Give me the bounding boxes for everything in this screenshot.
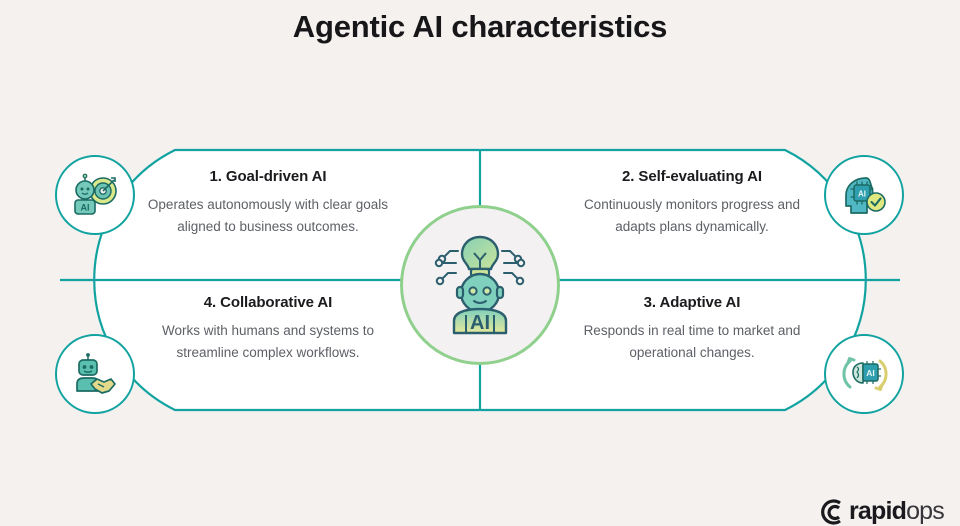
- svg-text:AI: AI: [858, 190, 866, 199]
- logo-text-bold: rapid: [849, 497, 906, 525]
- quadrant-body: Responds in real time to market and oper…: [567, 320, 817, 364]
- center-emblem: AI: [400, 205, 560, 365]
- ai-robot-lightbulb-icon: AI: [424, 229, 536, 341]
- center-emblem-label: AI: [470, 312, 490, 334]
- quadrant-title: 3. Adaptive AI: [567, 294, 817, 311]
- svg-text:AI: AI: [866, 368, 875, 378]
- quadrant-body: Continuously monitors progress and adapt…: [567, 194, 817, 238]
- quadrant-body: Works with humans and systems to streaml…: [143, 320, 393, 364]
- icon-circle-adaptive: AI: [824, 334, 904, 414]
- rapidops-spiral-icon: [818, 499, 844, 525]
- head-chip-checkmark-icon: AI: [840, 172, 888, 218]
- quadrant-goal-driven-ai: 1. Goal-driven AI Operates autonomously …: [143, 168, 393, 238]
- brain-chip-refresh-icon: AI: [840, 351, 888, 397]
- quadrant-title: 1. Goal-driven AI: [143, 168, 393, 185]
- quadrant-collaborative-ai: 4. Collaborative AI Works with humans an…: [143, 294, 393, 364]
- robot-target-goal-icon: AI: [70, 172, 120, 218]
- quadrant-title: 2. Self-evaluating AI: [567, 168, 817, 185]
- quadrant-adaptive-ai: 3. Adaptive AI Responds in real time to …: [567, 294, 817, 364]
- icon-circle-collaborative: [55, 334, 135, 414]
- robot-handshake-icon: [71, 351, 119, 397]
- icon-circle-goal-driven: AI: [55, 155, 135, 235]
- icon-circle-self-evaluating: AI: [824, 155, 904, 235]
- quadrant-body: Operates autonomously with clear goals a…: [143, 194, 393, 238]
- quadrant-title: 4. Collaborative AI: [143, 294, 393, 311]
- rapidops-logo: rapidops: [818, 497, 944, 526]
- logo-text: rapidops: [849, 497, 944, 526]
- svg-text:AI: AI: [81, 203, 90, 213]
- quadrant-self-evaluating-ai: 2. Self-evaluating AI Continuously monit…: [567, 168, 817, 238]
- logo-text-light: ops: [906, 497, 944, 525]
- page-title: Agentic AI characteristics: [0, 9, 960, 45]
